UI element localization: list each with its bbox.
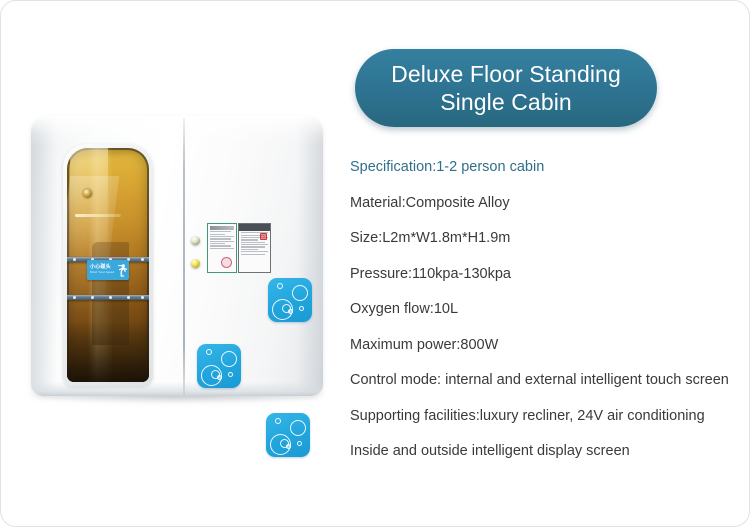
page-title: Deluxe Floor Standing Single Cabin — [379, 60, 633, 116]
gray-bordered-spec-plate — [238, 223, 271, 273]
valve-knob-upper — [191, 236, 200, 245]
product-info-card: 小心碰头 Mind Your Head — [0, 0, 750, 527]
interior-rail-lower — [67, 295, 149, 300]
bubble-decal-lower-right — [266, 413, 310, 457]
spec-line: Inside and outside intelligent display s… — [350, 443, 750, 460]
spec-line: Pressure:110kpa-130kpa — [350, 266, 750, 283]
product-info-panel: Deluxe Floor Standing Single Cabin Speci… — [346, 1, 750, 527]
spec-line: Material:Composite Alloy — [350, 195, 750, 212]
interior-shelf-line — [75, 214, 121, 217]
valve-knob-lower — [191, 259, 200, 268]
spec-line: Control mode: internal and external inte… — [350, 372, 750, 389]
chamber-module-seam — [183, 118, 185, 395]
spec-line: Specification:1-2 person cabin — [350, 159, 750, 176]
spec-line: Maximum power:800W — [350, 337, 750, 354]
spec-line: Supporting facilities:luxury recliner, 2… — [350, 408, 750, 425]
green-bordered-certificate — [207, 223, 237, 273]
product-photo: 小心碰头 Mind Your Head — [1, 96, 346, 486]
interior-gauge-icon — [83, 189, 92, 198]
spec-line: Oxygen flow:10L — [350, 301, 750, 318]
bubble-decal-middle-left — [197, 344, 241, 388]
warning-sign-label: 小心碰头 Mind Your Head — [87, 265, 116, 276]
bubble-decal-upper-right — [268, 278, 312, 322]
chamber-left-edge-shading — [31, 116, 57, 396]
spec-line: Size:L2m*W1.8m*H1.9m — [350, 230, 750, 247]
person-head-icon — [116, 260, 129, 280]
interior-floor-shadow — [67, 321, 149, 382]
product-title-badge: Deluxe Floor Standing Single Cabin — [355, 49, 657, 127]
chamber-right-edge-shading — [297, 116, 323, 396]
mind-your-head-warning-sign: 小心碰头 Mind Your Head — [87, 260, 129, 280]
specification-list: Specification:1-2 person cabinMaterial:C… — [350, 159, 750, 479]
